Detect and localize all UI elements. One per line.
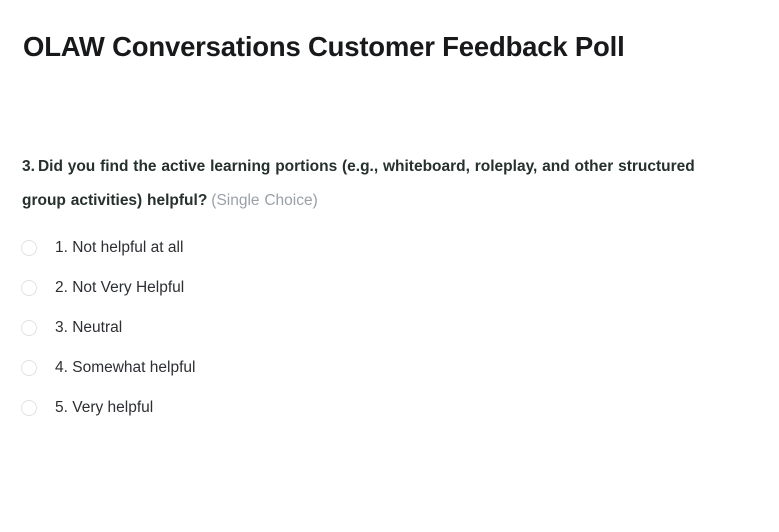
question-type-label: (Single Choice) bbox=[211, 192, 317, 209]
question-prompt: Did you find the active learning portion… bbox=[22, 158, 695, 209]
question-text: 3.Did you find the active learning porti… bbox=[22, 150, 722, 218]
option-label: 4. Somewhat helpful bbox=[55, 358, 195, 378]
radio-button-icon[interactable] bbox=[21, 320, 37, 336]
option-row-2[interactable]: 2. Not Very Helpful bbox=[0, 268, 400, 308]
poll-page: OLAW Conversations Customer Feedback Pol… bbox=[0, 0, 779, 532]
option-row-5[interactable]: 5. Very helpful bbox=[0, 388, 400, 428]
radio-button-icon[interactable] bbox=[21, 280, 37, 296]
radio-button-icon[interactable] bbox=[21, 240, 37, 256]
option-label: 1. Not helpful at all bbox=[55, 238, 183, 258]
radio-button-icon[interactable] bbox=[21, 360, 37, 376]
question-number: 3. bbox=[22, 158, 35, 175]
option-label: 3. Neutral bbox=[55, 318, 122, 338]
option-row-4[interactable]: 4. Somewhat helpful bbox=[0, 348, 400, 388]
options-list: 1. Not helpful at all 2. Not Very Helpfu… bbox=[0, 228, 400, 428]
question-block: 3.Did you find the active learning porti… bbox=[22, 150, 722, 218]
option-label: 2. Not Very Helpful bbox=[55, 278, 184, 298]
radio-button-icon[interactable] bbox=[21, 400, 37, 416]
option-row-3[interactable]: 3. Neutral bbox=[0, 308, 400, 348]
option-label: 5. Very helpful bbox=[55, 398, 153, 418]
option-row-1[interactable]: 1. Not helpful at all bbox=[0, 228, 400, 268]
page-title: OLAW Conversations Customer Feedback Pol… bbox=[23, 29, 625, 65]
